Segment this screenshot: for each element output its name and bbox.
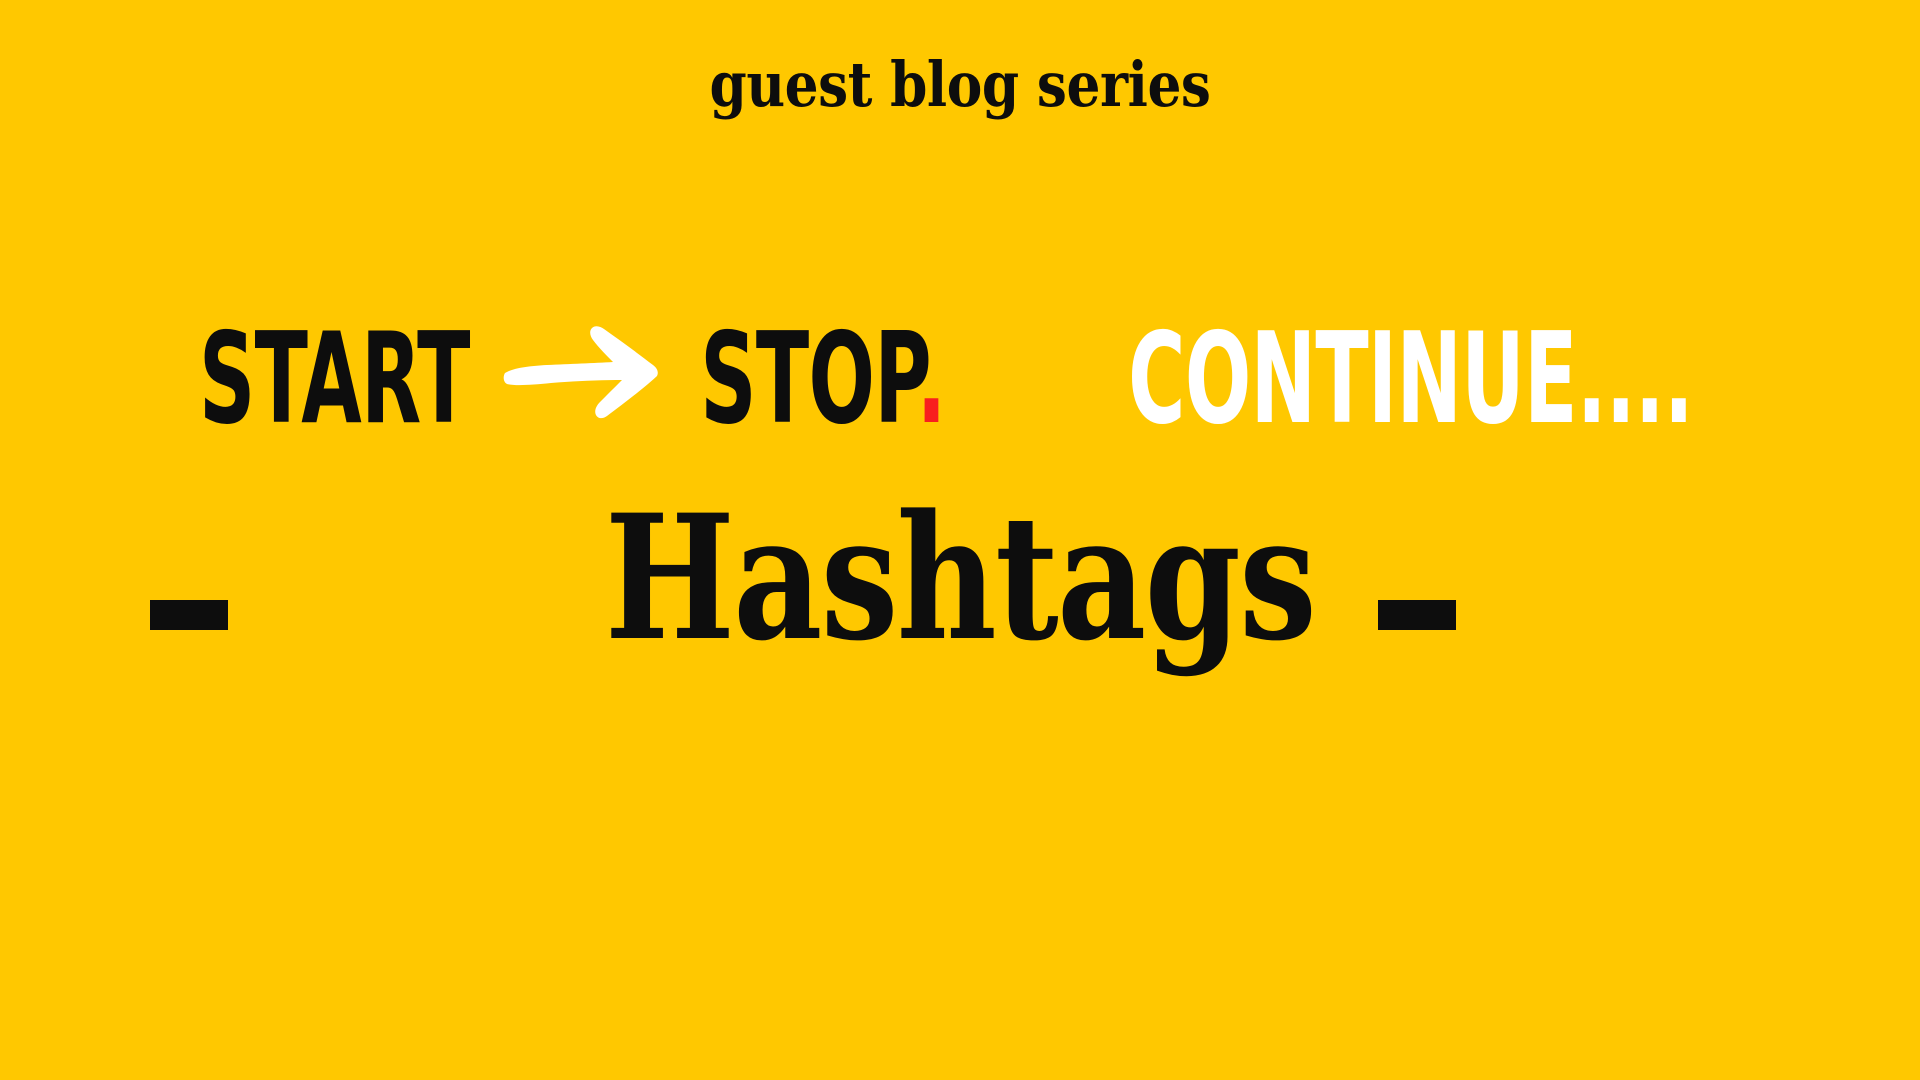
dash-mark	[150, 600, 228, 615]
action-row: START STOP. CONTINUE....	[0, 300, 1920, 430]
decoration-dashes-left	[150, 600, 230, 630]
decoration-dashes-right	[1378, 600, 1458, 630]
dash-mark	[150, 615, 228, 630]
start-label: START	[199, 327, 470, 430]
stop-label-text: STOP	[700, 305, 916, 452]
stop-label: STOP.	[700, 327, 945, 430]
page-title: Hashtags	[192, 492, 1728, 664]
arrow-right-hand-drawn-icon	[503, 310, 663, 422]
slide-canvas: guest blog series START STOP. CONTINUE..…	[0, 0, 1920, 1080]
continue-label: CONTINUE....	[1128, 327, 1693, 430]
dash-mark	[1378, 600, 1456, 615]
dash-mark	[1378, 615, 1456, 630]
stop-period: .	[916, 305, 945, 452]
eyebrow-text: guest blog series	[134, 52, 1785, 117]
